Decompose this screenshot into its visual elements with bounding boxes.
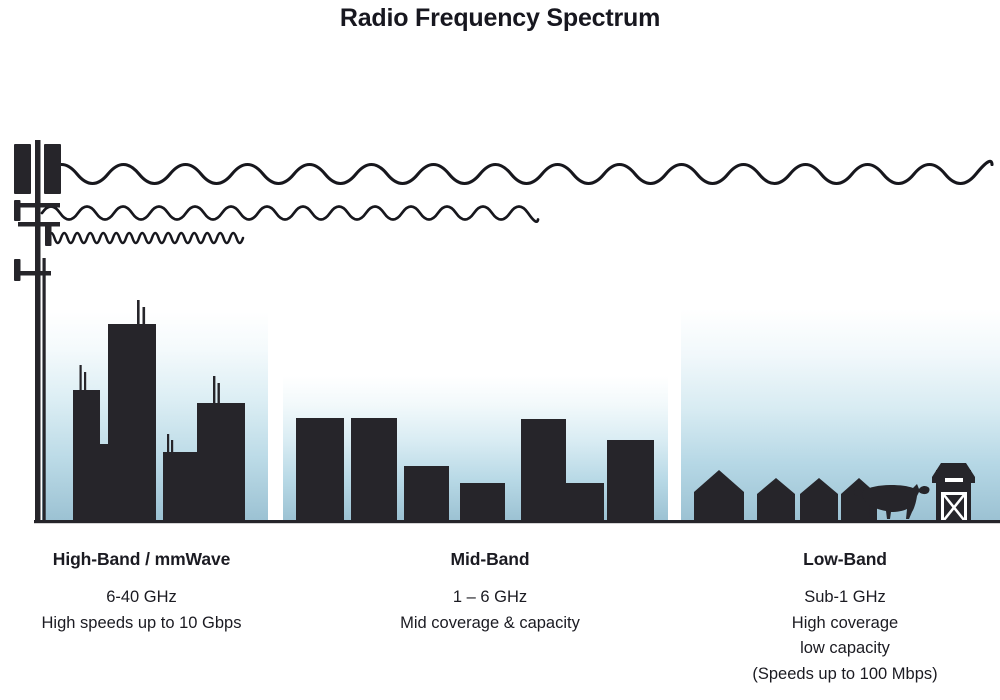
band-caption-high-band: High-Band / mmWave 6-40 GHz High speeds … <box>0 549 283 636</box>
antenna-panel-mid-left <box>14 200 21 221</box>
building-spire <box>167 434 169 454</box>
barn-icon <box>932 463 975 520</box>
propagation-waves <box>42 161 992 243</box>
tower-mast-secondary <box>43 258 46 520</box>
band-frequency-low-band: Sub-1 GHz <box>690 585 1000 611</box>
building-spire <box>137 300 140 325</box>
town-building <box>521 419 566 520</box>
town-building <box>460 483 505 520</box>
city-building <box>197 403 245 520</box>
band-capability-mid-band: Mid coverage & capacity <box>355 611 625 637</box>
band-title-high-band: High-Band / mmWave <box>0 549 283 570</box>
town-building <box>404 466 449 520</box>
band-caption-mid-band: Mid-Band 1 – 6 GHz Mid coverage & capaci… <box>355 549 625 636</box>
band-description-high-band: 6-40 GHz High speeds up to 10 Gbps <box>0 585 283 636</box>
building-spire <box>213 376 215 404</box>
building-spire <box>218 383 220 404</box>
barn-hayloft-window <box>945 478 963 482</box>
town-building <box>566 483 604 520</box>
band-capability-high-band: High speeds up to 10 Gbps <box>0 611 283 637</box>
town-building <box>351 418 397 520</box>
town-building <box>607 440 654 520</box>
band-capacity-low-band: low capacity <box>690 636 1000 662</box>
band-frequency-high-band: 6-40 GHz <box>0 585 283 611</box>
town-building <box>296 418 344 520</box>
band-speed-low-band: (Speeds up to 100 Mbps) <box>690 662 1000 688</box>
building-spire <box>143 307 146 325</box>
city-building <box>73 390 100 520</box>
building-spire <box>171 440 173 454</box>
band-frequency-mid-band: 1 – 6 GHz <box>355 585 625 611</box>
tower-crossarm-2 <box>18 222 60 227</box>
city-building <box>108 324 156 520</box>
tower-crossarm-1 <box>18 203 60 208</box>
band-description-low-band: Sub-1 GHz High coverage low capacity (Sp… <box>690 585 1000 687</box>
band-title-mid-band: Mid-Band <box>355 549 625 570</box>
band-caption-low-band: Low-Band Sub-1 GHz High coverage low cap… <box>690 549 1000 687</box>
ground-line <box>34 520 1000 523</box>
band-title-low-band: Low-Band <box>690 549 1000 570</box>
tower-mast <box>35 140 41 520</box>
tower-crossarm-3 <box>18 271 51 276</box>
band-description-mid-band: 1 – 6 GHz Mid coverage & capacity <box>355 585 625 636</box>
city-building <box>100 444 110 520</box>
band-coverage-low-band: High coverage <box>690 611 1000 637</box>
antenna-panel-upper-right <box>44 144 61 194</box>
antenna-panel-lower-left <box>14 259 21 281</box>
low-frequency-wave <box>46 161 992 183</box>
mid-frequency-wave <box>42 207 538 222</box>
high-frequency-wave <box>48 233 243 243</box>
antenna-panel-upper-left <box>14 144 31 194</box>
antenna-panel-mid-right <box>45 224 52 246</box>
